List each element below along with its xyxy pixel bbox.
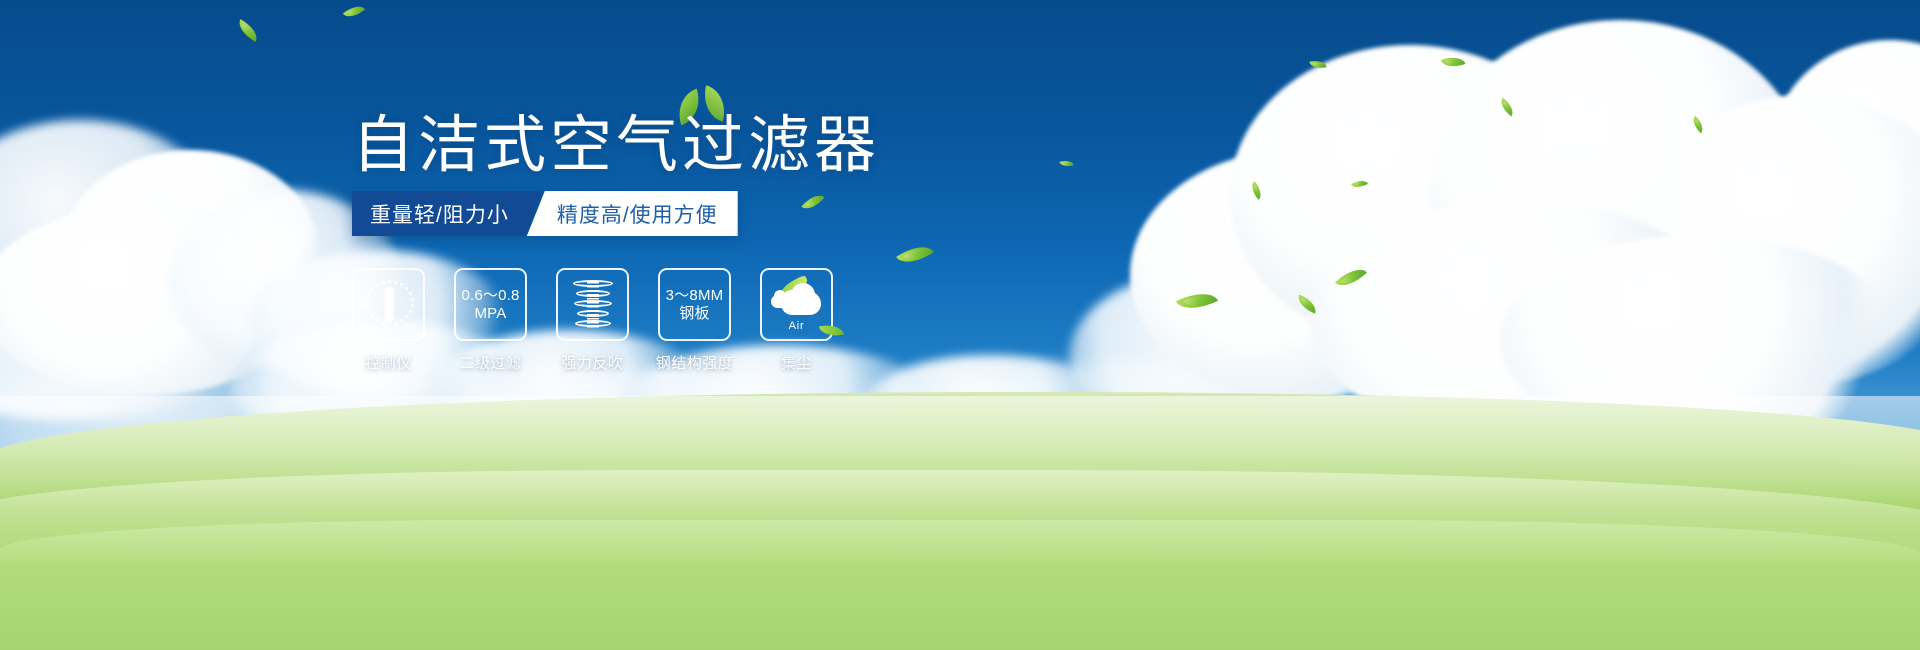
feature-icon-box: NO OFF xyxy=(352,268,425,341)
gauge-label-no: NO xyxy=(359,301,369,307)
gauge-label-off: OFF xyxy=(403,321,417,330)
feature-label: 控制仪 xyxy=(365,352,412,373)
feature-item[interactable]: 0.6～0.8 MPA 二级过滤 xyxy=(454,268,527,373)
feature-label: 二级过滤 xyxy=(459,352,521,373)
banner-content: 自洁式空气过滤器 重量轻/阻力小 精度高/使用方便 xyxy=(0,0,1920,650)
air-label: Air xyxy=(767,320,827,332)
pressure-unit: MPA xyxy=(461,305,519,323)
spring-icon xyxy=(570,279,616,331)
hero-banner: 自洁式空气过滤器 重量轻/阻力小 精度高/使用方便 xyxy=(0,0,1920,650)
feature-icon-box: Air xyxy=(760,268,833,341)
feature-item[interactable]: 强力反吹 xyxy=(556,268,629,373)
feature-item[interactable]: NO OFF 控制仪 xyxy=(352,268,425,373)
feature-box-text: 0.6～0.8 MPA xyxy=(461,287,519,322)
tagline-primary: 重量轻/阻力小 xyxy=(352,191,543,236)
feature-icon-box: 0.6～0.8 MPA xyxy=(454,268,527,341)
feature-icon-box xyxy=(556,268,629,341)
feature-list: NO OFF 控制仪 0.6～0.8 MPA 二级过滤 xyxy=(352,268,833,373)
feature-item[interactable]: 3～8MM 钢板 钢结构强度 xyxy=(658,268,731,373)
steel-thickness: 3～8MM xyxy=(666,287,724,305)
page-title: 自洁式空气过滤器 xyxy=(352,115,880,177)
feature-label: 强力反吹 xyxy=(561,352,623,373)
pressure-range: 0.6～0.8 xyxy=(461,287,519,305)
feature-label: 钢结构强度 xyxy=(656,352,734,373)
gauge-icon: NO OFF xyxy=(361,279,417,331)
feature-label: 集尘 xyxy=(781,352,812,373)
tagline-secondary: 精度高/使用方便 xyxy=(527,191,738,236)
gauge-needle xyxy=(384,287,393,323)
feature-item[interactable]: Air 集尘 xyxy=(760,268,833,373)
feature-icon-box: 3～8MM 钢板 xyxy=(658,268,731,341)
tagline-badge: 重量轻/阻力小 精度高/使用方便 xyxy=(352,191,738,236)
air-cloud-icon: Air xyxy=(767,279,827,331)
feature-box-text: 3～8MM 钢板 xyxy=(666,287,724,322)
steel-material: 钢板 xyxy=(666,305,724,323)
